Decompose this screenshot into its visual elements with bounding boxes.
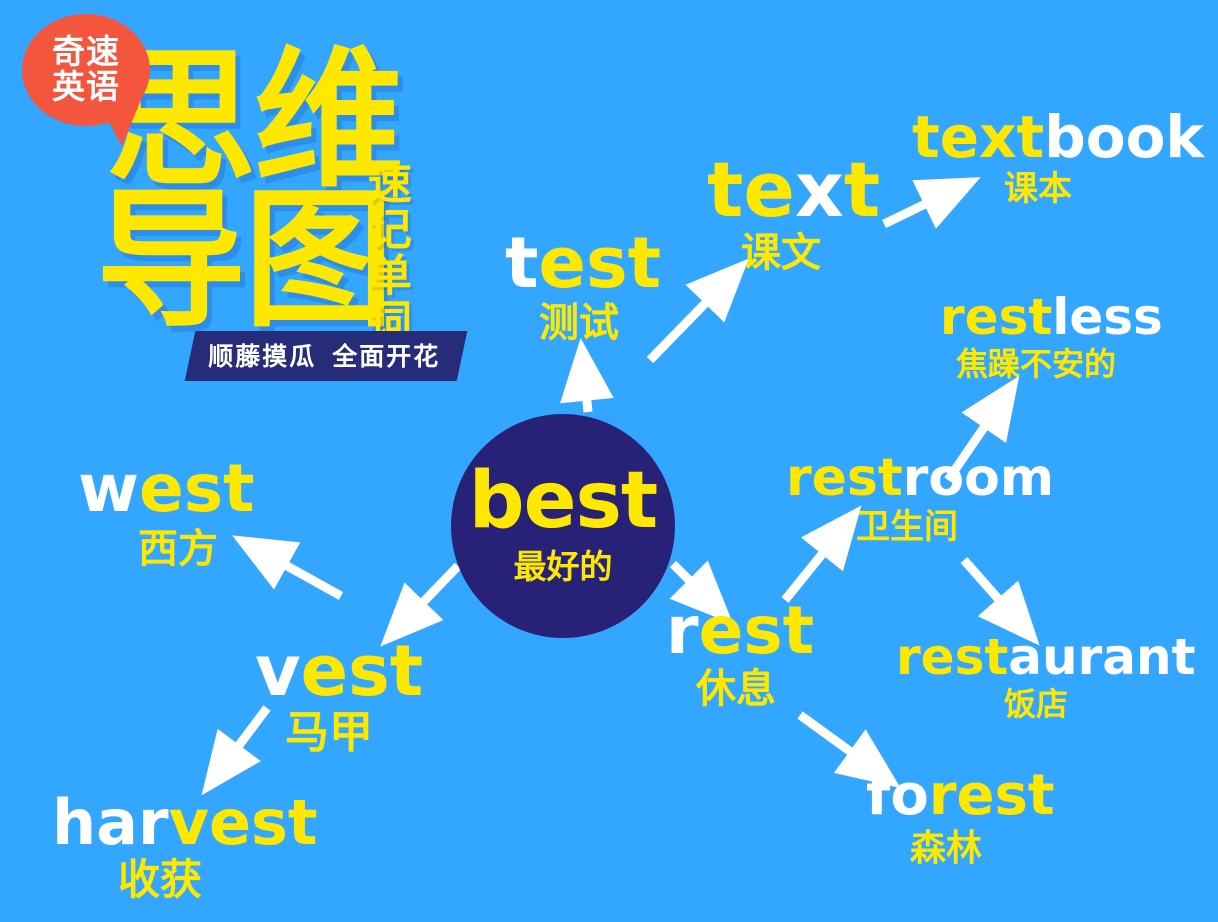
node-forest-meaning: 森林 (910, 830, 1055, 868)
node-textbook-prefix: text (912, 103, 1044, 171)
tagline-banner: 顺藤摸瓜全面开花 (185, 331, 468, 381)
node-vest[interactable]: vest 马甲 (255, 636, 423, 756)
node-textbook-meaning: 课本 (1004, 172, 1204, 208)
node-harvest-root: vest (169, 786, 318, 859)
brand-badge-line1: 奇速 (52, 35, 120, 70)
node-restroom-meaning: 卫生间 (856, 510, 1054, 546)
node-rest-meaning: 休息 (696, 668, 814, 710)
center-node-meaning: 最好的 (514, 540, 613, 588)
tagline-right: 全面开花 (332, 337, 440, 373)
node-west-meaning: 西方 (138, 528, 255, 570)
node-text-meaning: 课文 (741, 232, 880, 274)
node-textbook[interactable]: textbook 课本 (912, 108, 1204, 208)
node-test-prefix: t (505, 222, 538, 304)
node-restroom-root: room (903, 448, 1054, 508)
node-west[interactable]: west 西方 (78, 456, 255, 570)
node-rest-prefix: r (666, 592, 699, 669)
node-forest-prefix: fo (866, 763, 929, 828)
mindmap-canvas: 奇速 英语 思维 导图 速记单词 顺藤摸瓜全面开花 best 最好的 test … (0, 0, 1218, 922)
node-restless[interactable]: restless 焦躁不安的 (940, 292, 1163, 382)
center-node-best[interactable]: best 最好的 (451, 414, 675, 638)
brand-badge: 奇速 英语 (22, 14, 150, 126)
node-vest-prefix: v (255, 630, 301, 712)
node-restaurant-meaning: 饭店 (1004, 688, 1195, 722)
node-test-root: est (538, 222, 661, 304)
node-restless-root: less (1052, 288, 1163, 346)
tagline-left: 顺藤摸瓜 (208, 337, 316, 373)
node-harvest-prefix: har (52, 786, 169, 859)
arrow-best-vest (404, 566, 458, 622)
subtitle-vertical: 速记单词 (362, 160, 407, 344)
node-rest-root: est (699, 592, 815, 669)
node-text[interactable]: text 课文 (707, 152, 880, 274)
node-harvest-meaning: 收获 (118, 858, 318, 902)
arrow-best-test (584, 372, 588, 412)
arrow-restroom-restaurant (964, 560, 1017, 620)
node-forest-root: rest (929, 763, 1055, 828)
node-restless-meaning: 焦躁不安的 (956, 348, 1163, 382)
center-node-word: best (469, 464, 657, 538)
arrow-rest-forest (800, 715, 873, 768)
arrow-test-text (650, 283, 725, 360)
node-restaurant[interactable]: restaurant 饭店 (896, 632, 1195, 722)
node-forest[interactable]: forest 森林 (866, 768, 1055, 868)
node-restroom-prefix: rest (786, 448, 903, 508)
node-restroom[interactable]: restroom 卫生间 (786, 452, 1054, 546)
node-harvest[interactable]: harvest 收获 (52, 792, 318, 902)
arrow-vest-west (262, 552, 341, 596)
node-text-prefix: te (707, 145, 795, 234)
node-vest-root: est (301, 630, 424, 712)
brand-badge-line2: 英语 (52, 70, 120, 105)
node-restaurant-root: aurant (1008, 628, 1195, 686)
node-restless-prefix: rest (940, 288, 1052, 346)
node-test-meaning: 测试 (539, 302, 661, 344)
node-test[interactable]: test 测试 (505, 228, 661, 344)
node-west-root: est (139, 450, 255, 527)
node-textbook-root: book (1044, 103, 1204, 171)
node-restaurant-prefix: rest (896, 628, 1008, 686)
node-vest-meaning: 马甲 (285, 710, 423, 756)
page-title-line2: 导图 (96, 192, 392, 330)
node-text-suffix: t (844, 145, 880, 234)
node-west-prefix: w (78, 450, 139, 527)
node-rest[interactable]: rest 休息 (666, 598, 814, 710)
node-text-root: x (795, 145, 844, 234)
